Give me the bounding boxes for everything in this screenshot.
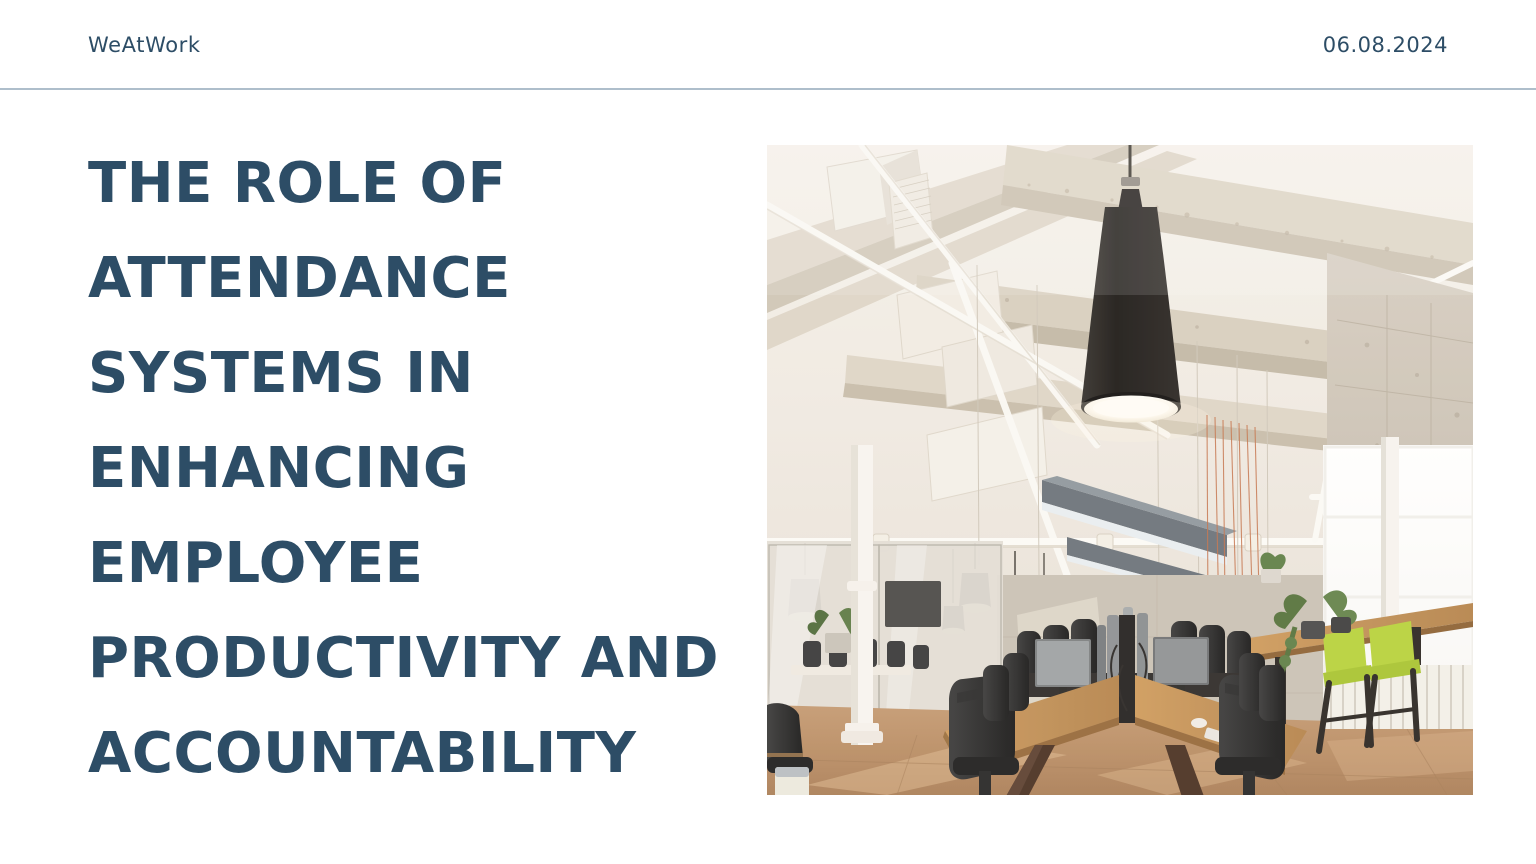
slide-header: WeAtWork 06.08.2024 bbox=[0, 0, 1536, 89]
title-line-3: SYSTEMS IN bbox=[88, 326, 718, 421]
header-divider bbox=[0, 88, 1536, 90]
page-title: THE ROLE OF ATTENDANCE SYSTEMS IN ENHANC… bbox=[88, 136, 718, 801]
title-line-2: ATTENDANCE bbox=[88, 231, 718, 326]
title-line-5: EMPLOYEE bbox=[88, 516, 718, 611]
title-line-4: ENHANCING bbox=[88, 421, 718, 516]
office-photo bbox=[767, 145, 1473, 795]
slide-date: 06.08.2024 bbox=[1323, 33, 1448, 57]
title-line-6: PRODUCTIVITY AND bbox=[88, 611, 718, 706]
brand-logo: WeAtWork bbox=[88, 33, 201, 57]
office-photo-illustration bbox=[767, 145, 1473, 795]
title-line-1: THE ROLE OF bbox=[88, 136, 718, 231]
slide-root: WeAtWork 06.08.2024 THE ROLE OF ATTENDAN… bbox=[0, 0, 1536, 864]
title-line-7: ACCOUNTABILITY bbox=[88, 706, 718, 801]
